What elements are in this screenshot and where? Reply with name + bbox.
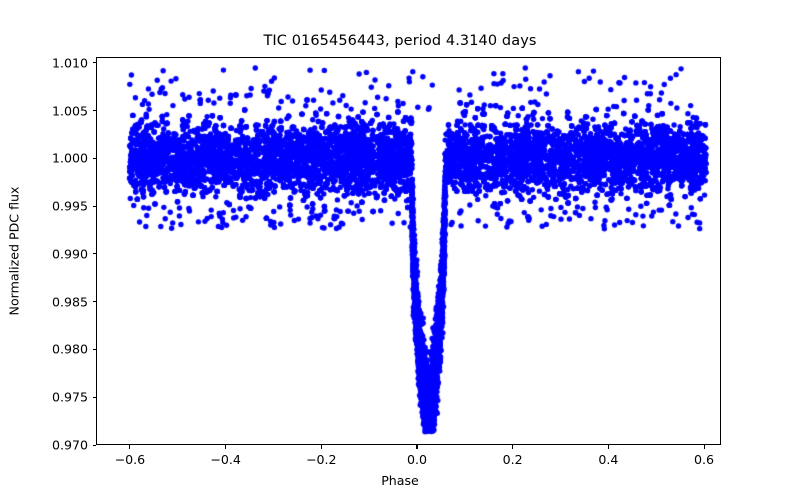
y-tick-label: 0.990 <box>32 246 88 261</box>
x-tick-label: 0.6 <box>664 452 744 467</box>
y-axis-label: Normalized PDC flux <box>7 187 22 316</box>
x-tick-mark <box>321 445 322 449</box>
x-tick-mark <box>704 445 705 449</box>
y-tick-label: 0.970 <box>32 438 88 453</box>
x-tick-mark <box>608 445 609 449</box>
y-tick-label: 0.985 <box>32 294 88 309</box>
x-tick-mark <box>129 445 130 449</box>
y-tick-label: 0.995 <box>32 199 88 214</box>
x-tick-label: −0.6 <box>90 452 170 467</box>
plot-area <box>96 57 721 445</box>
x-tick-label: 0.2 <box>473 452 553 467</box>
x-axis-label: Phase <box>0 473 800 488</box>
y-tick-label: 1.010 <box>32 55 88 70</box>
x-tick-mark <box>225 445 226 449</box>
x-tick-label: −0.4 <box>186 452 266 467</box>
x-tick-label: 0.4 <box>568 452 648 467</box>
y-tick-label: 0.980 <box>32 342 88 357</box>
figure-canvas: TIC 0165456443, period 4.3140 days 0.970… <box>0 0 800 500</box>
scatter-plot-points <box>97 58 721 445</box>
x-tick-mark <box>512 445 513 449</box>
x-tick-label: −0.2 <box>281 452 361 467</box>
x-tick-mark <box>416 445 417 449</box>
x-tick-label: 0.0 <box>377 452 457 467</box>
y-tick-label: 0.975 <box>32 390 88 405</box>
y-tick-label: 1.005 <box>32 103 88 118</box>
page-title: TIC 0165456443, period 4.3140 days <box>0 33 800 49</box>
y-tick-label: 1.000 <box>32 151 88 166</box>
